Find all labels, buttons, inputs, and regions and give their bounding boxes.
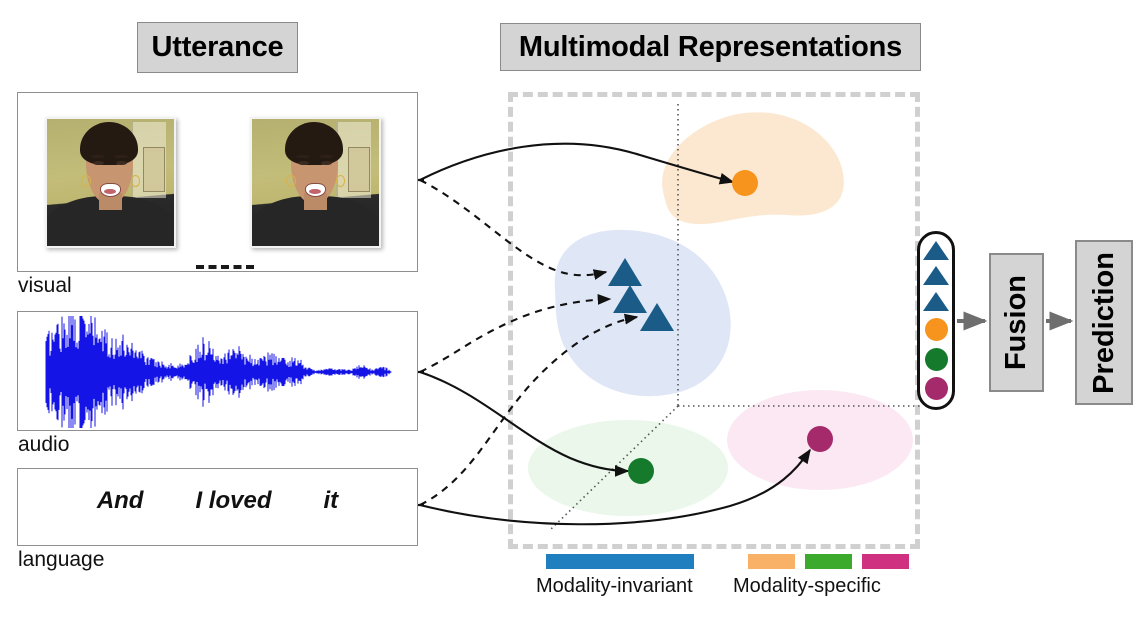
frame-wall-picture — [348, 147, 370, 192]
legend-label-modality-invariant: Modality-invariant — [536, 575, 693, 598]
frame-earring-left — [81, 175, 91, 187]
legend-swatch-specific-green — [805, 554, 852, 569]
vector-item-circle-icon — [925, 348, 948, 371]
legend-swatch-specific-orange — [748, 554, 795, 569]
legend-swatch-specific-magenta — [862, 554, 909, 569]
language-token: And — [97, 487, 144, 515]
diagram-canvas: Utterance Multimodal Representations — [0, 0, 1140, 626]
utterance-header: Utterance — [137, 22, 298, 73]
fusion-block: Fusion — [989, 253, 1044, 392]
video-frame-first — [45, 117, 176, 248]
vector-item-circle-icon — [925, 318, 948, 341]
audio-modality-panel — [17, 311, 418, 431]
prediction-label: Prediction — [1088, 252, 1121, 394]
multimodal-representations-header: Multimodal Representations — [500, 23, 921, 71]
video-frame-last — [250, 117, 381, 248]
vector-item-triangle-icon — [923, 266, 949, 285]
visual-caption: visual — [18, 274, 72, 298]
prediction-block: Prediction — [1075, 240, 1133, 405]
language-caption: language — [18, 548, 104, 572]
audio-caption: audio — [18, 433, 69, 457]
audio-waveform — [38, 316, 398, 428]
frame-wall-picture — [143, 147, 165, 192]
frame-earring-left — [286, 175, 296, 187]
frame-sequence-ellipsis — [196, 265, 254, 269]
legend-swatch-modality-invariant — [546, 554, 694, 569]
language-modality-panel: And I loved it — [17, 468, 418, 546]
representation-space-container — [508, 92, 920, 549]
frame-tongue — [104, 189, 115, 194]
language-token-row: And I loved it — [18, 487, 417, 515]
language-token: it — [324, 487, 339, 515]
language-token: I loved — [195, 487, 271, 515]
vector-item-triangle-icon — [923, 292, 949, 311]
vector-item-triangle-icon — [923, 241, 949, 260]
frame-tongue — [309, 189, 320, 194]
legend-label-modality-specific: Modality-specific — [733, 575, 881, 598]
vector-item-circle-icon — [925, 377, 948, 400]
visual-modality-panel — [17, 92, 418, 272]
fusion-label: Fusion — [1000, 275, 1033, 370]
fused-vector-capsule — [917, 231, 955, 410]
